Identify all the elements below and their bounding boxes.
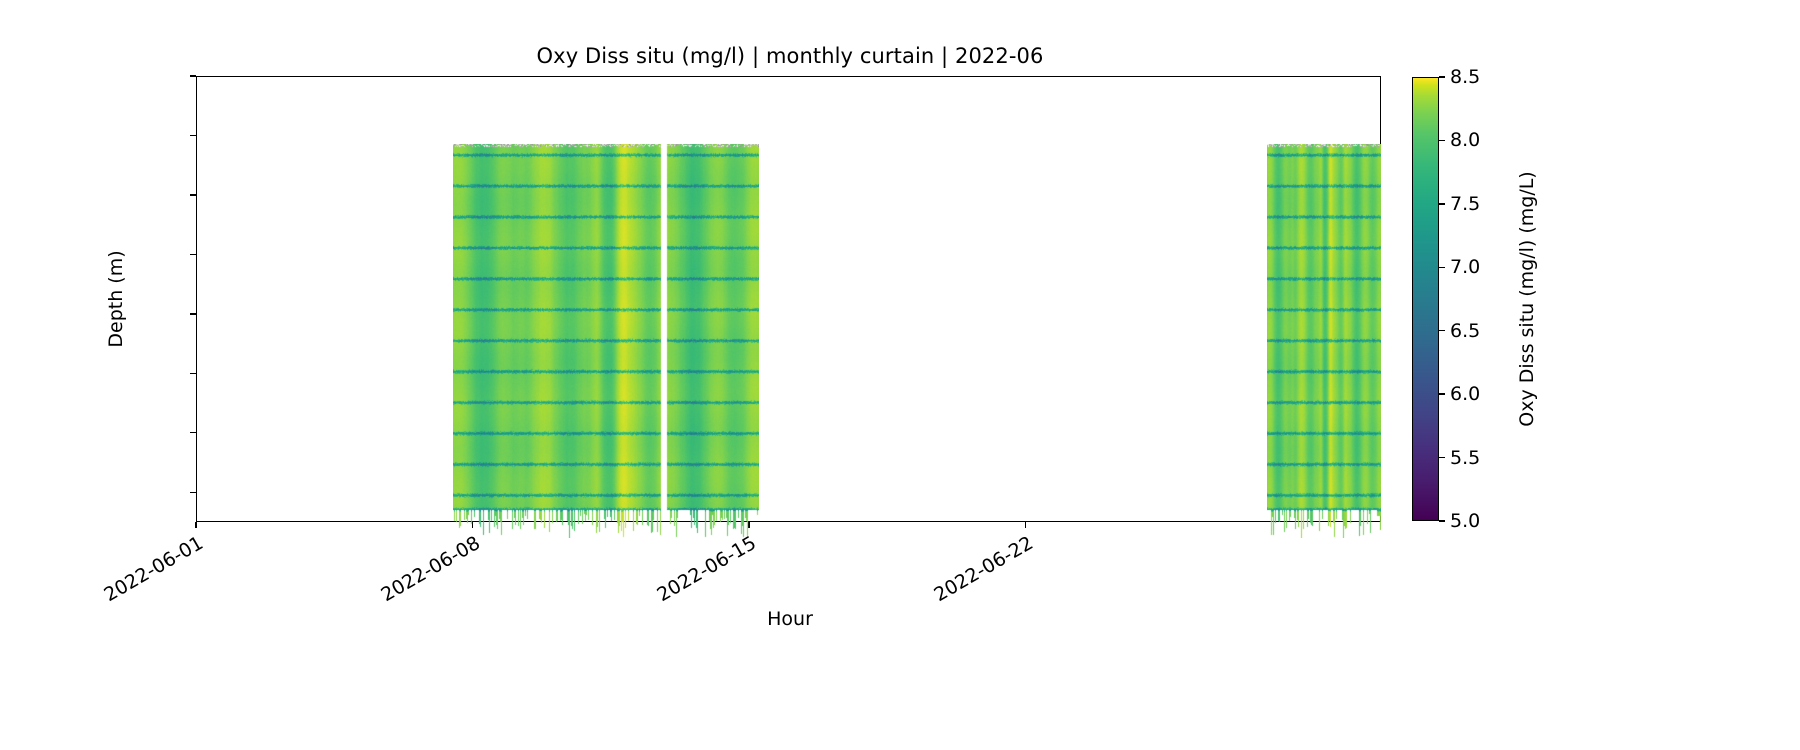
colorbar-tick-label: 8.5: [1450, 66, 1480, 88]
colorbar-tick-label: 7.5: [1450, 193, 1480, 215]
x-axis-label: Hour: [767, 608, 813, 630]
x-tick-label: 2022-06-15: [576, 532, 760, 651]
colorbar-label: Oxy Diss situ (mg/l) (mg/L): [1516, 171, 1538, 426]
colorbar-tick-mark: [1439, 457, 1445, 458]
x-tick-mark: [1025, 522, 1026, 528]
y-axis-label: Depth (m): [105, 250, 127, 347]
y-tick-mark: [190, 135, 196, 136]
y-tick-mark: [190, 313, 196, 314]
colorbar-tick-mark: [1439, 140, 1445, 141]
data-block-deployment-1: [453, 144, 759, 538]
colorbar-tick-label: 6.0: [1450, 383, 1480, 405]
y-tick-mark: [190, 492, 196, 493]
plot-area: [197, 77, 1380, 521]
colorbar-tick-label: 8.0: [1450, 129, 1480, 151]
colorbar-tick-label: 6.5: [1450, 320, 1480, 342]
x-tick-label: 2022-06-08: [299, 532, 483, 651]
x-tick-mark: [195, 522, 196, 528]
y-tick-mark: [190, 254, 196, 255]
x-tick-label: 2022-06-22: [852, 532, 1036, 651]
colorbar-tick-label: 5.0: [1450, 510, 1480, 532]
y-tick-mark: [190, 194, 196, 195]
y-tick-mark: [190, 373, 196, 374]
curtain-raster: [1267, 144, 1381, 538]
curtain-raster: [453, 144, 759, 538]
colorbar-tick-label: 5.5: [1450, 447, 1480, 469]
chart-title: Oxy Diss situ (mg/l) | monthly curtain |…: [0, 44, 1800, 68]
y-tick-mark: [190, 75, 196, 76]
colorbar-tick-mark: [1439, 203, 1445, 204]
colorbar-gradient: [1412, 77, 1439, 521]
data-block-deployment-2: [1267, 144, 1381, 538]
colorbar-tick-mark: [1439, 76, 1445, 77]
colorbar-tick-label: 7.0: [1450, 256, 1480, 278]
plot-axes: [196, 76, 1381, 522]
colorbar-tick-mark: [1439, 520, 1445, 521]
colorbar-tick-mark: [1439, 267, 1445, 268]
y-tick-mark: [190, 432, 196, 433]
figure-canvas: Oxy Diss situ (mg/l) | monthly curtain |…: [0, 0, 1800, 750]
colorbar-tick-mark: [1439, 393, 1445, 394]
colorbar-tick-mark: [1439, 330, 1445, 331]
